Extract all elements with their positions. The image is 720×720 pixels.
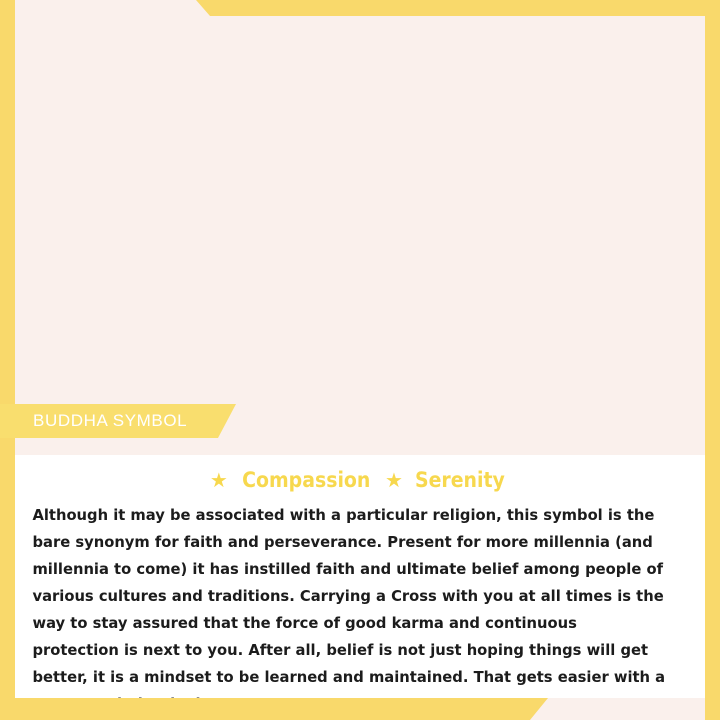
symbol-category-tag: BUDDHA SYMBOL <box>0 404 236 438</box>
star-icon: ★ <box>210 468 228 492</box>
right-border-accent <box>705 0 720 720</box>
attributes-subheading: ★ Compassion ★ Serenity <box>15 455 705 492</box>
poster-root: BUDDHA STONES Symbols Property <box>0 0 720 720</box>
attribute-compassion: Compassion <box>242 468 370 492</box>
star-icon: ★ <box>385 468 403 492</box>
left-border-accent <box>0 0 15 720</box>
symbol-category-label: BUDDHA SYMBOL <box>33 411 187 431</box>
description-body: Although it may be associated with a par… <box>15 492 684 718</box>
description-panel: ★ Compassion ★ Serenity Although it may … <box>15 455 705 698</box>
attribute-serenity: Serenity <box>415 468 505 492</box>
